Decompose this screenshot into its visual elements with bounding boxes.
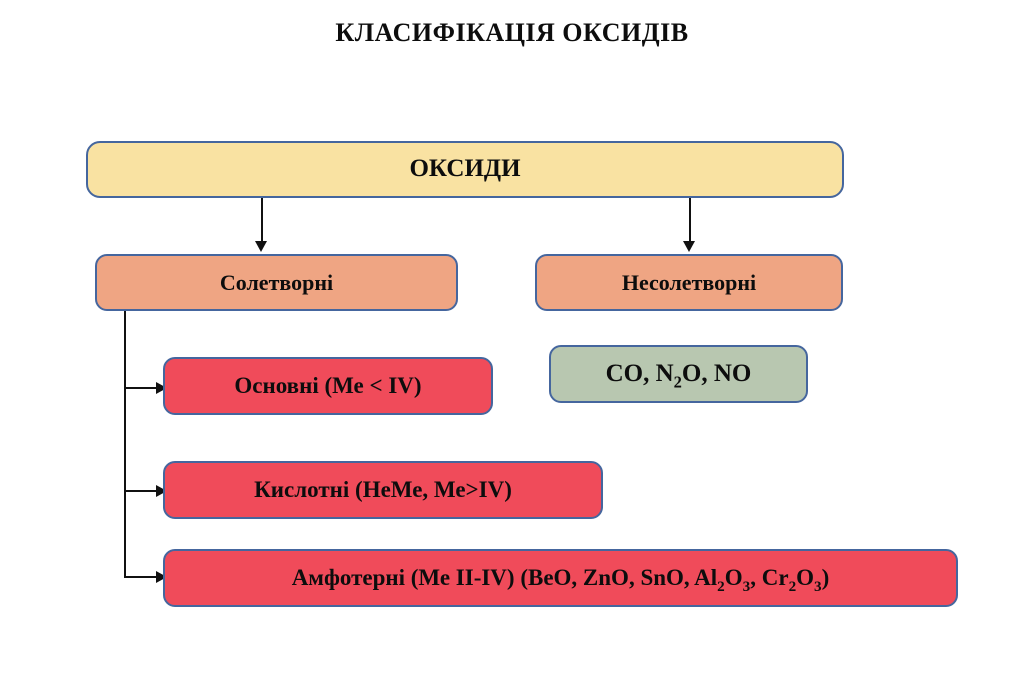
formula-text: O	[725, 565, 743, 590]
formula-text: , Cr	[750, 565, 788, 590]
connector-salt-forming-to-amphoteric	[124, 576, 158, 578]
node-non-salt-examples: CO, N2O, NO	[549, 345, 808, 403]
node-basic-oxides-label: Основні (Ме < IV)	[234, 374, 421, 398]
connector-oxides-to-non-salt-forming	[689, 198, 691, 243]
formula-text: )	[822, 565, 830, 590]
node-salt-forming-label: Солетворні	[220, 271, 333, 294]
formula-text: Амфотерні (Ме II-IV) (BeO, ZnO, SnO, Al	[292, 565, 717, 590]
node-salt-forming: Солетворні	[95, 254, 458, 311]
node-acidic-oxides-label: Кислотні (НеМе, Ме>IV)	[254, 478, 512, 502]
arrow-down-icon-non-salt-forming	[683, 241, 695, 252]
arrow-down-icon-salt-forming	[255, 241, 267, 252]
diagram-canvas: КЛАСИФІКАЦІЯ ОКСИДІВ ОКСИДИ Солетворні Н…	[0, 0, 1024, 684]
formula-subscript: 2	[674, 372, 682, 391]
connector-salt-forming-to-acidic	[124, 490, 158, 492]
connector-oxides-to-salt-forming	[261, 198, 263, 243]
node-oxides: ОКСИДИ	[86, 141, 844, 198]
node-non-salt-examples-label: CO, N2O, NO	[606, 361, 752, 387]
connector-salt-forming-trunk	[124, 311, 126, 577]
node-amphoteric-oxides: Амфотерні (Ме II-IV) (BeO, ZnO, SnO, Al2…	[163, 549, 958, 607]
node-acidic-oxides: Кислотні (НеМе, Ме>IV)	[163, 461, 603, 519]
node-non-salt-forming-label: Несолетворні	[622, 271, 756, 294]
node-oxides-label: ОКСИДИ	[409, 156, 520, 182]
page-title: КЛАСИФІКАЦІЯ ОКСИДІВ	[0, 18, 1024, 48]
formula-subscript: 3	[814, 578, 822, 595]
node-basic-oxides: Основні (Ме < IV)	[163, 357, 493, 415]
formula-subscript: 2	[717, 578, 725, 595]
connector-salt-forming-to-basic	[124, 387, 158, 389]
formula-text: O, NO	[682, 360, 751, 387]
formula-text: O	[796, 565, 814, 590]
formula-text: CO, N	[606, 360, 674, 387]
node-non-salt-forming: Несолетворні	[535, 254, 843, 311]
node-amphoteric-oxides-label: Амфотерні (Ме II-IV) (BeO, ZnO, SnO, Al2…	[292, 566, 830, 590]
